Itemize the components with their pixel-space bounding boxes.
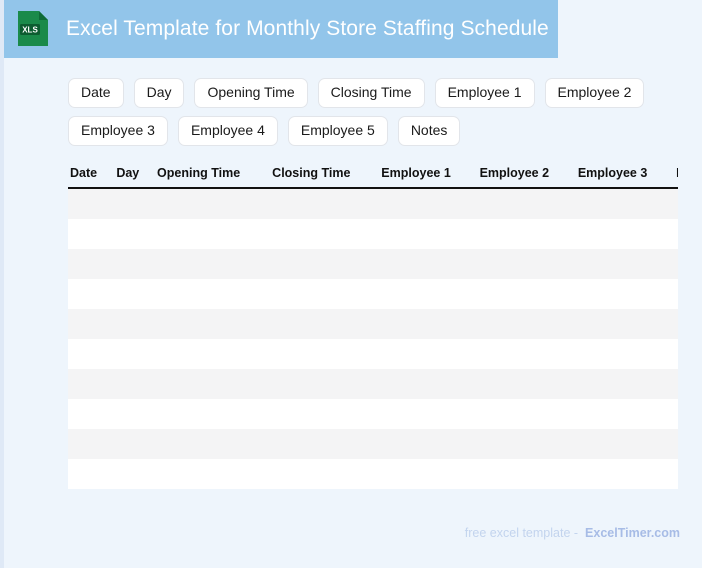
table-cell[interactable] <box>68 429 116 459</box>
table-cell[interactable] <box>68 249 116 279</box>
column-header-employee-1[interactable]: Employee 1 <box>381 164 479 188</box>
table-cell[interactable] <box>676 399 678 429</box>
table-cell[interactable] <box>676 429 678 459</box>
table-cell[interactable] <box>157 219 272 249</box>
tag-opening-time[interactable]: Opening Time <box>194 78 307 108</box>
table-cell[interactable] <box>272 429 381 459</box>
table-cell[interactable] <box>157 188 272 219</box>
column-tag-area: Date Day Opening Time Closing Time Emplo… <box>68 78 668 146</box>
table-cell[interactable] <box>480 188 578 219</box>
table-cell[interactable] <box>676 369 678 399</box>
table-cell[interactable] <box>272 219 381 249</box>
table-cell[interactable] <box>578 399 676 429</box>
column-header-day[interactable]: Day <box>116 164 157 188</box>
table-cell[interactable] <box>480 309 578 339</box>
table-cell[interactable] <box>68 369 116 399</box>
table-cell[interactable] <box>157 249 272 279</box>
table-cell[interactable] <box>157 369 272 399</box>
table-cell[interactable] <box>578 429 676 459</box>
table-cell[interactable] <box>116 339 157 369</box>
tag-notes[interactable]: Notes <box>398 116 461 146</box>
column-header-opening-time[interactable]: Opening Time <box>157 164 272 188</box>
table-cell[interactable] <box>157 309 272 339</box>
table-cell[interactable] <box>116 188 157 219</box>
table-cell[interactable] <box>480 249 578 279</box>
table-row[interactable] <box>68 459 678 489</box>
table-cell[interactable] <box>381 249 479 279</box>
table-cell[interactable] <box>480 459 578 489</box>
table-cell[interactable] <box>272 188 381 219</box>
table-cell[interactable] <box>676 249 678 279</box>
table-cell[interactable] <box>676 339 678 369</box>
table-row[interactable] <box>68 309 678 339</box>
table-cell[interactable] <box>381 219 479 249</box>
table-cell[interactable] <box>116 399 157 429</box>
table-cell[interactable] <box>116 429 157 459</box>
page-title: Excel Template for Monthly Store Staffin… <box>66 17 549 41</box>
table-cell[interactable] <box>116 249 157 279</box>
table-cell[interactable] <box>578 188 676 219</box>
table-cell[interactable] <box>68 188 116 219</box>
table-cell[interactable] <box>116 369 157 399</box>
table-row[interactable] <box>68 249 678 279</box>
tag-date[interactable]: Date <box>68 78 124 108</box>
table-cell[interactable] <box>381 339 479 369</box>
table-cell[interactable] <box>676 279 678 309</box>
column-tag-list: Date Day Opening Time Closing Time Emplo… <box>68 78 668 146</box>
table-row[interactable] <box>68 339 678 369</box>
tag-employee-3[interactable]: Employee 3 <box>68 116 168 146</box>
table-cell[interactable] <box>116 219 157 249</box>
table-cell[interactable] <box>480 369 578 399</box>
table-cell[interactable] <box>272 249 381 279</box>
table-cell[interactable] <box>381 369 479 399</box>
tag-employee-5[interactable]: Employee 5 <box>288 116 388 146</box>
column-header-date[interactable]: Date <box>68 164 116 188</box>
page-header-bar: XLS Excel Template for Monthly Store Sta… <box>0 0 558 58</box>
tag-employee-2[interactable]: Employee 2 <box>545 78 645 108</box>
table-cell[interactable] <box>157 459 272 489</box>
xls-file-icon: XLS <box>16 10 50 48</box>
table-cell[interactable] <box>676 219 678 249</box>
table-row[interactable] <box>68 279 678 309</box>
tag-employee-1[interactable]: Employee 1 <box>435 78 535 108</box>
tag-employee-4[interactable]: Employee 4 <box>178 116 278 146</box>
table-cell[interactable] <box>578 249 676 279</box>
column-header-employee-3[interactable]: Employee 3 <box>578 164 676 188</box>
table-cell[interactable] <box>68 309 116 339</box>
footer-credit: free excel template - ExcelTimer.com <box>465 526 680 540</box>
table-cell[interactable] <box>676 309 678 339</box>
table-cell[interactable] <box>480 339 578 369</box>
table-row[interactable] <box>68 219 678 249</box>
schedule-table-head: Date Day Opening Time Closing Time Emplo… <box>68 164 678 188</box>
table-cell[interactable] <box>272 339 381 369</box>
table-cell[interactable] <box>116 309 157 339</box>
table-cell[interactable] <box>116 279 157 309</box>
schedule-table-wrapper: Date Day Opening Time Closing Time Emplo… <box>68 164 678 494</box>
table-cell[interactable] <box>578 339 676 369</box>
table-cell[interactable] <box>272 279 381 309</box>
table-cell[interactable] <box>480 219 578 249</box>
table-cell[interactable] <box>381 429 479 459</box>
table-cell[interactable] <box>381 309 479 339</box>
tag-closing-time[interactable]: Closing Time <box>318 78 425 108</box>
table-cell[interactable] <box>578 369 676 399</box>
table-row[interactable] <box>68 399 678 429</box>
table-cell[interactable] <box>272 369 381 399</box>
table-cell[interactable] <box>157 339 272 369</box>
table-cell[interactable] <box>68 279 116 309</box>
table-cell[interactable] <box>157 279 272 309</box>
schedule-table-body <box>68 188 678 489</box>
table-header-row: Date Day Opening Time Closing Time Emplo… <box>68 164 678 188</box>
tag-day[interactable]: Day <box>134 78 185 108</box>
table-row[interactable] <box>68 188 678 219</box>
table-cell[interactable] <box>157 429 272 459</box>
table-row[interactable] <box>68 429 678 459</box>
column-header-closing-time[interactable]: Closing Time <box>272 164 381 188</box>
table-cell[interactable] <box>116 459 157 489</box>
table-cell[interactable] <box>272 459 381 489</box>
table-cell[interactable] <box>68 459 116 489</box>
table-cell[interactable] <box>480 399 578 429</box>
table-cell[interactable] <box>381 399 479 429</box>
schedule-table: Date Day Opening Time Closing Time Emplo… <box>68 164 678 489</box>
column-header-employee-2[interactable]: Employee 2 <box>480 164 578 188</box>
footer-brand-link[interactable]: ExcelTimer.com <box>585 526 680 540</box>
table-cell[interactable] <box>68 399 116 429</box>
table-cell[interactable] <box>381 279 479 309</box>
svg-text:XLS: XLS <box>22 26 38 35</box>
table-cell[interactable] <box>480 279 578 309</box>
table-cell[interactable] <box>578 279 676 309</box>
table-cell[interactable] <box>272 309 381 339</box>
table-cell[interactable] <box>381 459 479 489</box>
footer-text: free excel template - <box>465 526 578 540</box>
table-cell[interactable] <box>381 188 479 219</box>
table-cell[interactable] <box>676 188 678 219</box>
column-header-employee-4[interactable]: Employee 4 <box>676 164 678 188</box>
table-row[interactable] <box>68 369 678 399</box>
page-left-gutter <box>0 0 4 568</box>
table-cell[interactable] <box>578 219 676 249</box>
table-cell[interactable] <box>68 339 116 369</box>
table-cell[interactable] <box>68 219 116 249</box>
table-cell[interactable] <box>272 399 381 429</box>
table-cell[interactable] <box>676 459 678 489</box>
table-cell[interactable] <box>578 309 676 339</box>
table-cell[interactable] <box>578 459 676 489</box>
table-cell[interactable] <box>480 429 578 459</box>
table-cell[interactable] <box>157 399 272 429</box>
